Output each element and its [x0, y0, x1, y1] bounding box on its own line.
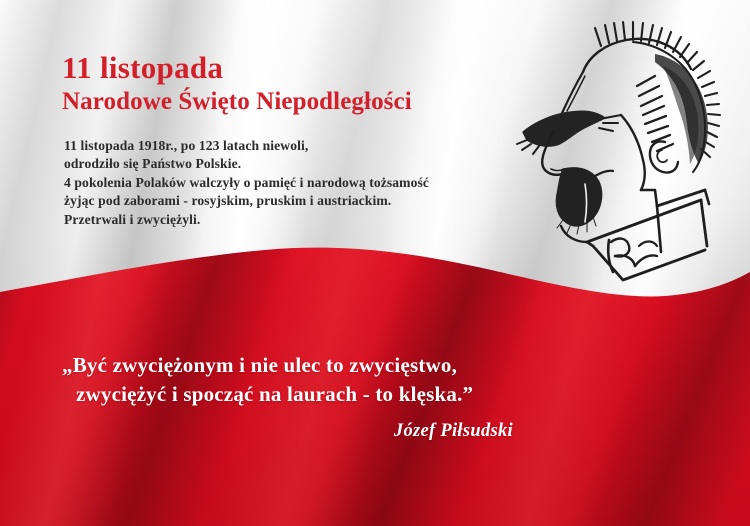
page-title: 11 listopada [62, 52, 223, 85]
quotation: „Być zwyciężonym i nie ulec to zwycięstw… [62, 351, 473, 409]
pilsudski-portrait-icon [505, 14, 750, 294]
quote-line-1: „Być zwyciężonym i nie ulec to zwycięstw… [62, 351, 473, 380]
body-line-4: żyjąc pod zaborami - rosyjskim, pruskim … [64, 192, 429, 210]
page-subtitle: Narodowe Święto Niepodległości [62, 88, 412, 116]
body-line-3: 4 pokolenia Polaków walczyły o pamięć i … [64, 174, 429, 192]
body-paragraph: 11 listopada 1918r., po 123 latach niewo… [64, 137, 429, 229]
body-line-5: Przetrwali i zwyciężyli. [64, 211, 429, 229]
quote-author: Józef Piłsudski [0, 421, 513, 442]
quote-line-2: zwyciężyć i spocząć na laurach - to klęs… [62, 380, 473, 409]
body-line-1: 11 listopada 1918r., po 123 latach niewo… [64, 137, 429, 155]
polish-independence-day-poster: 11 listopada Narodowe Święto Niepodległo… [0, 0, 750, 526]
body-line-2: odrodziło się Państwo Polskie. [64, 155, 429, 173]
